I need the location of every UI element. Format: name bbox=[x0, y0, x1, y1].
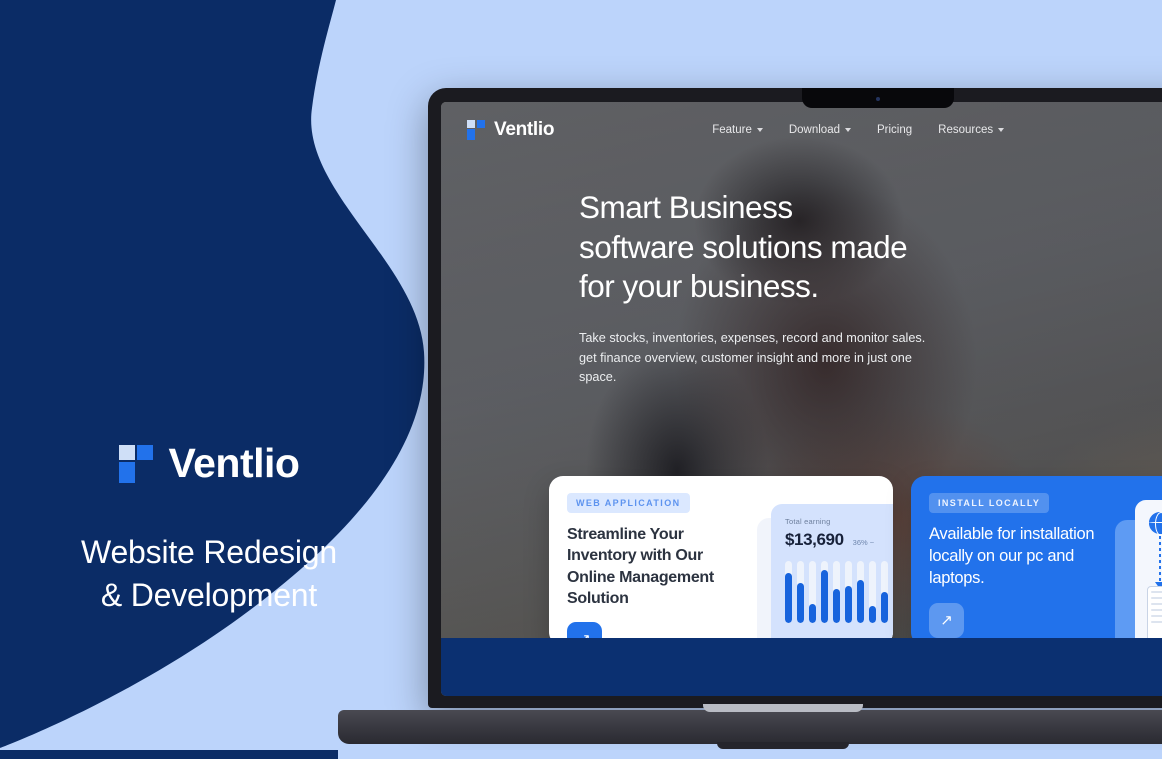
tagline-line-2: & Development bbox=[0, 574, 418, 617]
site-footer-strip bbox=[441, 638, 1162, 696]
monitor-sidebar-line bbox=[1151, 597, 1162, 599]
sync-diagram-stack: Synchronize bbox=[1107, 476, 1162, 646]
globe-icon bbox=[1149, 512, 1162, 534]
earnings-bar-fill bbox=[785, 573, 792, 623]
earnings-bar-fill bbox=[797, 583, 804, 623]
earnings-bar-fill bbox=[833, 589, 840, 623]
earnings-bar bbox=[845, 561, 852, 623]
bottom-strip-navy-left bbox=[0, 750, 338, 759]
laptop-foot bbox=[717, 742, 849, 749]
earnings-label: Total earning bbox=[785, 517, 893, 526]
card-web-application-body: WEB APPLICATION Streamline Your Inventor… bbox=[549, 476, 745, 646]
earnings-widget: Total earning $13,690 36% ~ bbox=[771, 504, 893, 646]
monitor-illustration bbox=[1147, 586, 1162, 644]
camera-icon bbox=[876, 97, 880, 101]
logo-square-bottom-left bbox=[467, 129, 475, 140]
earnings-bar bbox=[857, 561, 864, 623]
site-nav-links: Feature Download Pricing Resources bbox=[712, 124, 1004, 136]
laptop-mockup: Ventlio Feature Download Pricing bbox=[428, 88, 1162, 708]
hero-title: Smart Business software solutions made f… bbox=[579, 188, 939, 307]
brand-lockup: Ventlio bbox=[0, 440, 418, 487]
earnings-bar bbox=[785, 561, 792, 623]
earnings-bar-fill bbox=[809, 604, 816, 623]
tagline: Website Redesign & Development bbox=[0, 531, 418, 616]
badge-web-application: WEB APPLICATION bbox=[567, 493, 690, 513]
earnings-bar bbox=[821, 561, 828, 623]
logo-square-top-left bbox=[119, 445, 135, 460]
laptop-base bbox=[338, 710, 1162, 744]
chevron-down-icon bbox=[845, 128, 851, 132]
laptop-camera-notch bbox=[802, 88, 954, 108]
earnings-bar bbox=[797, 561, 804, 623]
nav-item-download[interactable]: Download bbox=[789, 124, 851, 136]
monitor-sidebar-line bbox=[1151, 603, 1162, 605]
sync-diagram: Synchronize bbox=[1135, 500, 1162, 646]
logo-square-top-left bbox=[467, 120, 475, 128]
hero-title-line-2: software solutions made bbox=[579, 228, 939, 268]
earnings-bar-fill bbox=[869, 606, 876, 623]
earnings-bar-fill bbox=[821, 570, 828, 623]
earnings-bar-fill bbox=[881, 592, 888, 623]
ventlio-logo-icon bbox=[119, 445, 153, 483]
monitor-sidebar-line bbox=[1151, 615, 1162, 617]
monitor-sidebar bbox=[1151, 591, 1162, 639]
earnings-bar-fill bbox=[845, 586, 852, 623]
nav-item-feature-label: Feature bbox=[712, 124, 752, 136]
site-logo-text: Ventlio bbox=[494, 119, 554, 141]
brand-block: Ventlio Website Redesign & Development bbox=[0, 440, 418, 616]
earnings-bar bbox=[869, 561, 876, 623]
monitor-sidebar-line bbox=[1151, 609, 1162, 611]
card-web-application[interactable]: WEB APPLICATION Streamline Your Inventor… bbox=[549, 476, 893, 646]
bottom-light-strip bbox=[0, 750, 1162, 759]
earnings-amount: $13,690 bbox=[785, 530, 844, 550]
earnings-bar-chart bbox=[785, 561, 893, 623]
card-install-locally[interactable]: INSTALL LOCALLY Available for installati… bbox=[911, 476, 1162, 646]
nav-item-feature[interactable]: Feature bbox=[712, 124, 763, 136]
hero-section: Smart Business software solutions made f… bbox=[441, 166, 1162, 696]
earnings-bar bbox=[881, 561, 888, 623]
earnings-widget-stack: Total earning $13,690 36% ~ bbox=[745, 476, 893, 646]
laptop-lid: Ventlio Feature Download Pricing bbox=[428, 88, 1162, 708]
site-logo[interactable]: Ventlio bbox=[467, 119, 554, 141]
nav-item-pricing-label: Pricing bbox=[877, 124, 912, 136]
logo-square-top-right bbox=[477, 120, 485, 128]
nav-item-download-label: Download bbox=[789, 124, 840, 136]
poster-canvas: Ventlio Website Redesign & Development bbox=[0, 0, 1162, 759]
sync-dotted-vertical bbox=[1159, 536, 1161, 584]
earnings-bar bbox=[833, 561, 840, 623]
arrow-up-right-icon: ↗ bbox=[940, 613, 953, 628]
card-web-application-title: Streamline Your Inventory with Our Onlin… bbox=[567, 524, 745, 609]
tagline-line-1: Website Redesign bbox=[0, 531, 418, 574]
logo-square-top-right bbox=[137, 445, 153, 460]
hero-content: Smart Business software solutions made f… bbox=[579, 188, 1162, 388]
card-install-locally-body: INSTALL LOCALLY Available for installati… bbox=[911, 476, 1107, 646]
earnings-value-row: $13,690 36% ~ bbox=[785, 530, 893, 550]
hero-subtitle: Take stocks, inventories, expenses, reco… bbox=[579, 329, 931, 388]
nav-item-pricing[interactable]: Pricing bbox=[877, 124, 912, 136]
chevron-down-icon bbox=[757, 128, 763, 132]
nav-item-resources-label: Resources bbox=[938, 124, 993, 136]
logo-square-bottom-left bbox=[119, 462, 135, 483]
earnings-bar-fill bbox=[857, 580, 864, 623]
monitor-sidebar-line bbox=[1151, 621, 1162, 623]
ventlio-logo-icon-small bbox=[467, 120, 485, 140]
monitor-sidebar-line bbox=[1151, 591, 1162, 593]
hero-title-line-3: for your business. bbox=[579, 267, 939, 307]
nav-item-resources[interactable]: Resources bbox=[938, 124, 1004, 136]
feature-cards-row: WEB APPLICATION Streamline Your Inventor… bbox=[549, 476, 1162, 646]
earnings-delta: 36% ~ bbox=[853, 538, 874, 550]
hero-title-line-1: Smart Business bbox=[579, 188, 939, 228]
chevron-down-icon bbox=[998, 128, 1004, 132]
card-install-locally-title: Available for installation locally on ou… bbox=[929, 524, 1107, 590]
badge-install-locally: INSTALL LOCALLY bbox=[929, 493, 1049, 513]
site-navbar: Ventlio Feature Download Pricing bbox=[441, 102, 1162, 158]
brand-name: Ventlio bbox=[169, 440, 300, 487]
earnings-bar bbox=[809, 561, 816, 623]
card-install-locally-arrow-button[interactable]: ↗ bbox=[929, 603, 964, 638]
laptop-screen: Ventlio Feature Download Pricing bbox=[441, 102, 1162, 696]
